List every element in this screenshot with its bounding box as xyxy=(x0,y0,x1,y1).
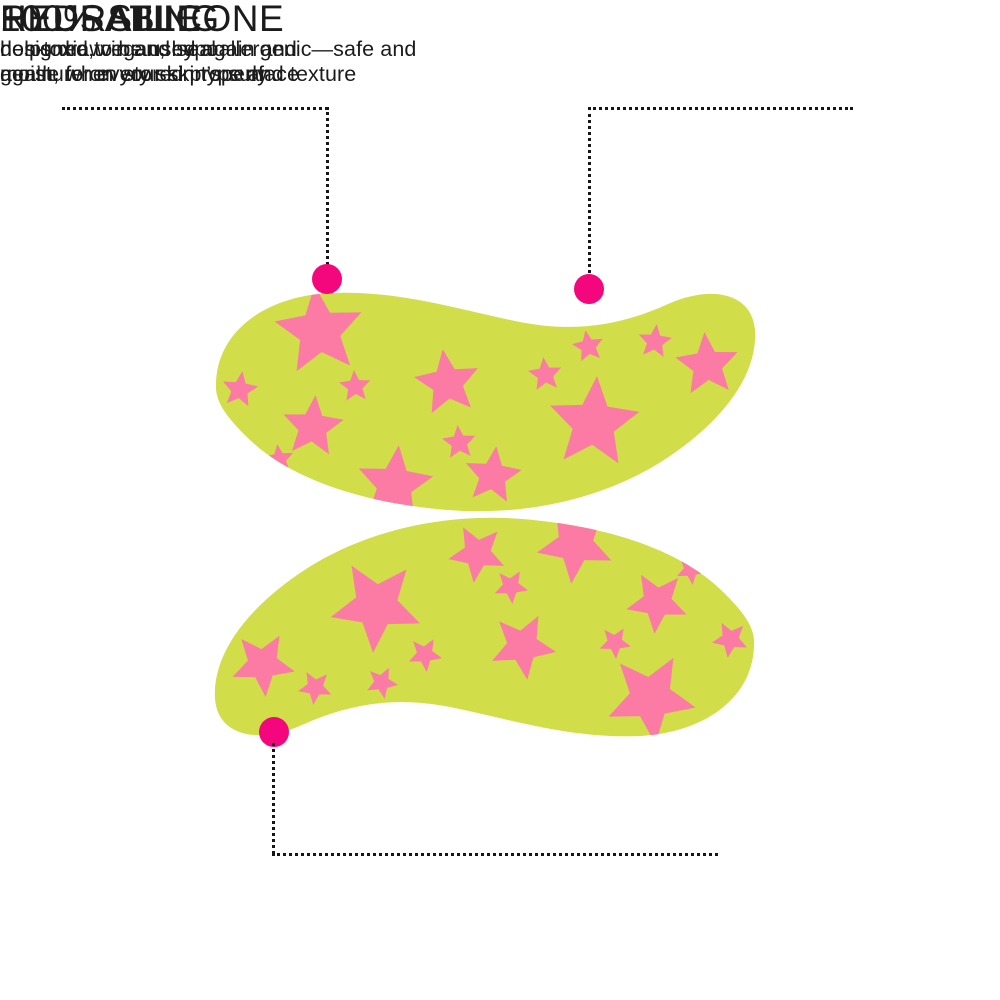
callout-dot-reusable-icon xyxy=(312,264,342,294)
callout-silicone-body: non-toxic, vegan, hypoallergenic—safe an… xyxy=(0,37,470,87)
lower-patch-star-pattern xyxy=(228,509,750,749)
leader-line-horizontal-hydrating xyxy=(588,107,853,110)
leader-line-horizontal-silicone xyxy=(272,853,718,856)
product-illustration xyxy=(0,0,1000,1000)
infographic-canvas: REUSABLE designed to be used again and a… xyxy=(0,0,1000,1000)
upper-eye-patch xyxy=(216,281,755,521)
leader-line-vertical-hydrating xyxy=(588,107,591,285)
callout-silicone-title: 100% SILICONE xyxy=(0,0,470,37)
leader-line-horizontal-reusable xyxy=(62,107,328,110)
callout-dot-hydrating-icon xyxy=(574,274,604,304)
lower-eye-patch xyxy=(215,509,754,749)
callout-silicone: 100% SILICONE non-toxic, vegan, hypoalle… xyxy=(0,0,470,87)
upper-patch-star-pattern xyxy=(220,281,742,521)
leader-line-vertical-reusable xyxy=(326,107,329,271)
leader-line-vertical-silicone xyxy=(272,743,275,854)
